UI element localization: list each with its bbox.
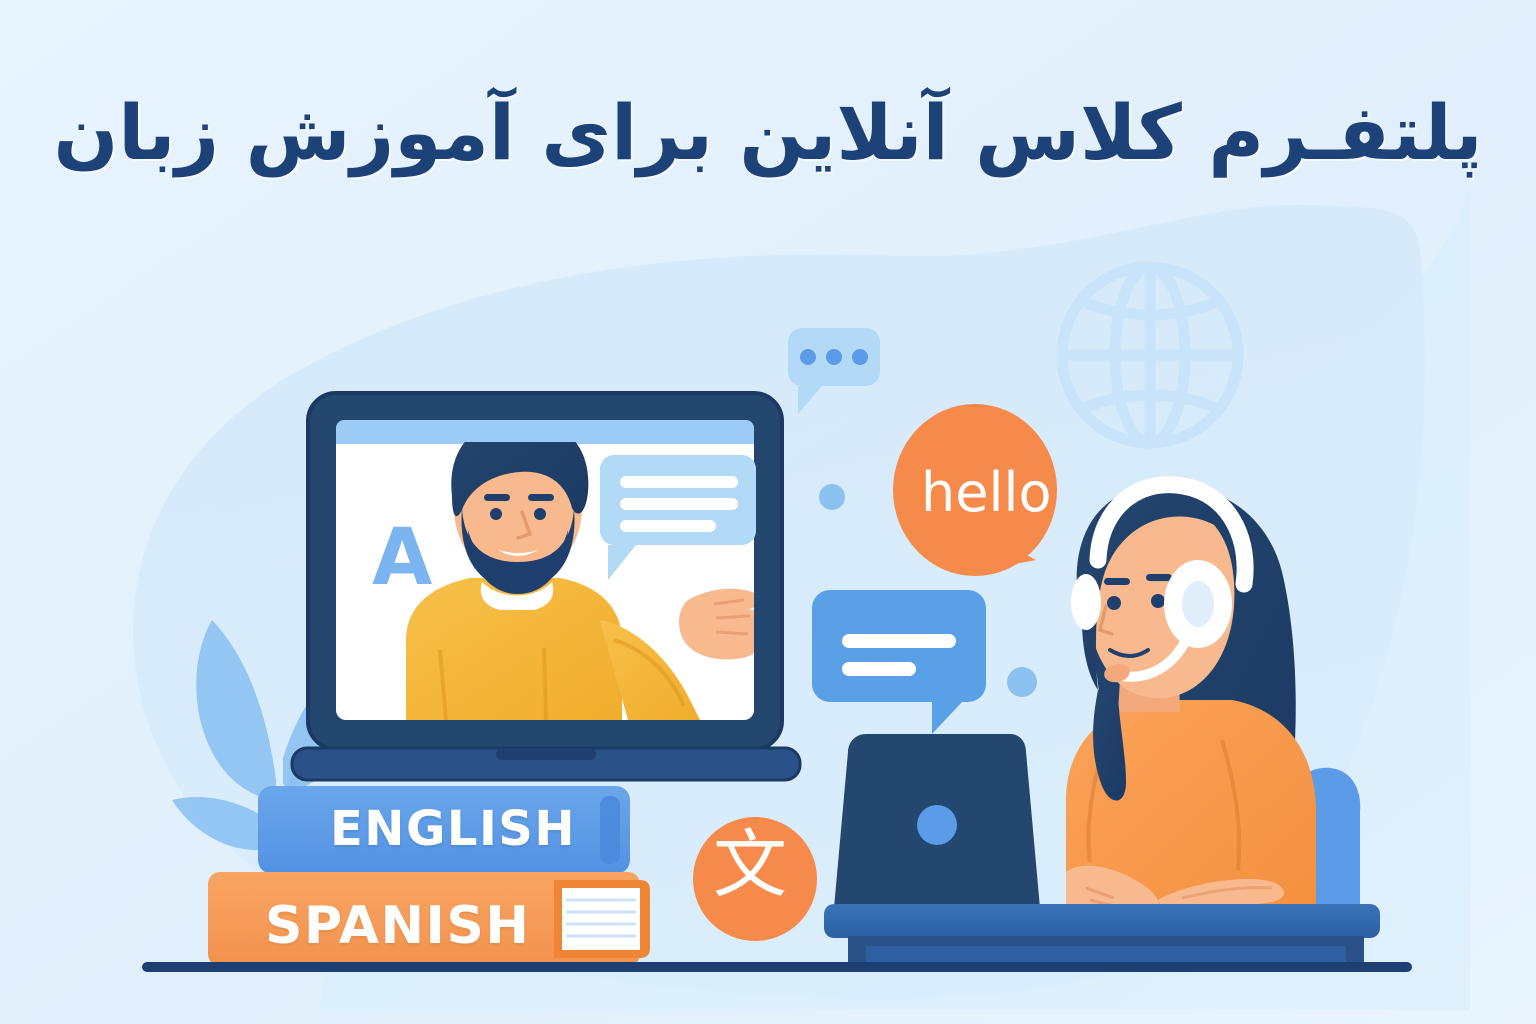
ground-line xyxy=(142,962,1412,972)
hello-bubble-text: hello xyxy=(921,461,1052,524)
page-title: پلتفـرم کلاس آنلاین برای آموزش زبان xyxy=(0,88,1536,178)
video-call-laptop xyxy=(292,393,800,780)
letter-badge: A xyxy=(372,513,432,603)
translate-glyph-icon: 文 xyxy=(713,828,787,902)
illustration-canvas: پلتفـرم کلاس آنلاین برای آموزش زبان ENGL… xyxy=(0,0,1536,1024)
globe-icon xyxy=(1062,267,1238,443)
desk xyxy=(824,904,1380,966)
book-english-label: ENGLISH xyxy=(330,801,576,857)
floating-dot xyxy=(1007,667,1037,697)
book-spanish-label: SPANISH xyxy=(265,896,530,956)
floating-dot xyxy=(819,484,845,510)
student-laptop xyxy=(834,734,1040,908)
